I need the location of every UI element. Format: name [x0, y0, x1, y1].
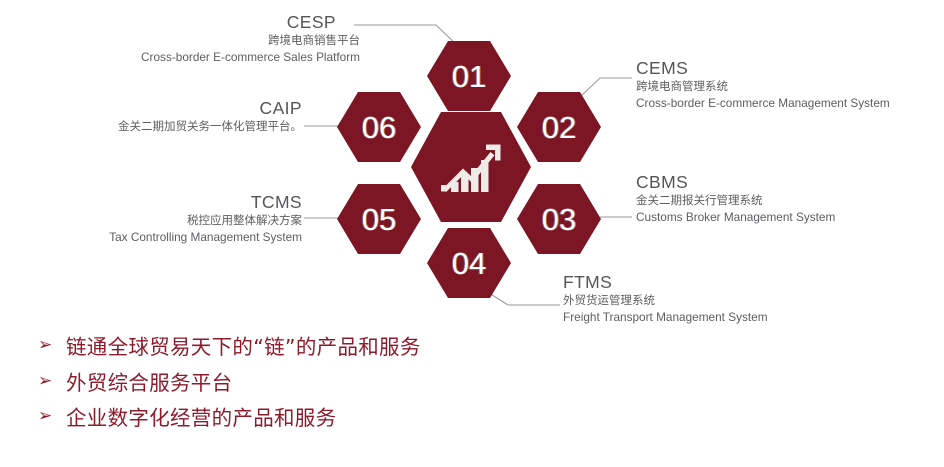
label-tcms: TCMS 税控应用整体解决方案 Tax Controlling Manageme… [42, 192, 302, 246]
label-tcms-en: Tax Controlling Management System [42, 229, 302, 246]
label-ftms-en: Freight Transport Management System [563, 309, 863, 326]
hexagon-03-number: 03 [542, 204, 576, 235]
label-caip-cn: 金关二期加贸关务一体化管理平台。 [42, 118, 302, 135]
label-caip: CAIP 金关二期加贸关务一体化管理平台。 [42, 98, 302, 135]
label-cems: CEMS 跨境电商管理系统 Cross-border E-commerce Ma… [636, 58, 936, 112]
bullet-item: ➢ 企业数字化经营的产品和服务 [38, 405, 598, 432]
label-tcms-acronym: TCMS [42, 192, 302, 212]
label-ftms: FTMS 外贸货运管理系统 Freight Transport Manageme… [563, 272, 863, 326]
hexagon-04[interactable]: 04 [427, 228, 511, 298]
connector-01 [354, 25, 458, 46]
hexagon-06-number: 06 [362, 112, 396, 143]
label-cbms-en: Customs Broker Management System [636, 209, 936, 226]
connector-02 [580, 78, 632, 97]
label-cesp-cn: 跨境电商销售平台 [88, 32, 360, 49]
hexagon-02[interactable]: 02 [517, 92, 601, 162]
bullet-arrow-icon: ➢ [38, 334, 66, 357]
label-ftms-acronym: FTMS [563, 272, 863, 292]
label-cesp-en: Cross-border E-commerce Sales Platform [88, 49, 360, 66]
hexagon-01[interactable]: 01 [427, 41, 511, 111]
bullet-list: ➢ 链通全球贸易天下的“链”的产品和服务 ➢ 外贸综合服务平台 ➢ 企业数字化经… [38, 334, 598, 441]
center-hexagon[interactable] [411, 112, 531, 222]
hexagon-06[interactable]: 06 [337, 92, 421, 162]
label-cems-en: Cross-border E-commerce Management Syste… [636, 95, 936, 112]
bullet-arrow-icon: ➢ [38, 370, 66, 393]
bullet-item-text: 企业数字化经营的产品和服务 [66, 405, 336, 432]
hexagon-02-number: 02 [542, 112, 576, 143]
connector-04 [489, 293, 560, 305]
growth-chart-arrow-icon [438, 138, 504, 196]
label-cbms-cn: 金关二期报关行管理系统 [636, 192, 936, 209]
hexagon-05-number: 05 [362, 204, 396, 235]
label-tcms-cn: 税控应用整体解决方案 [42, 212, 302, 229]
label-ftms-cn: 外贸货运管理系统 [563, 292, 863, 309]
hexagon-01-number: 01 [452, 61, 486, 92]
hexagon-04-number: 04 [452, 248, 486, 279]
hexagon-03[interactable]: 03 [517, 184, 601, 254]
bullet-item-text: 外贸综合服务平台 [66, 370, 232, 397]
bullet-arrow-icon: ➢ [38, 405, 66, 428]
hexagon-05[interactable]: 05 [337, 184, 421, 254]
label-cesp-acronym: CESP [88, 12, 360, 32]
bullet-item: ➢ 外贸综合服务平台 [38, 370, 598, 397]
label-cems-cn: 跨境电商管理系统 [636, 78, 936, 95]
label-cems-acronym: CEMS [636, 58, 936, 78]
bullet-item: ➢ 链通全球贸易天下的“链”的产品和服务 [38, 334, 598, 361]
bullet-item-text: 链通全球贸易天下的“链”的产品和服务 [66, 334, 421, 361]
label-cbms: CBMS 金关二期报关行管理系统 Customs Broker Manageme… [636, 172, 936, 226]
label-caip-acronym: CAIP [42, 98, 302, 118]
diagram-canvas: 01 02 03 04 05 06 CESP 跨境电商销售平台 Cross-bo… [0, 0, 944, 467]
label-cbms-acronym: CBMS [636, 172, 936, 192]
label-cesp: CESP 跨境电商销售平台 Cross-border E-commerce Sa… [88, 12, 360, 66]
